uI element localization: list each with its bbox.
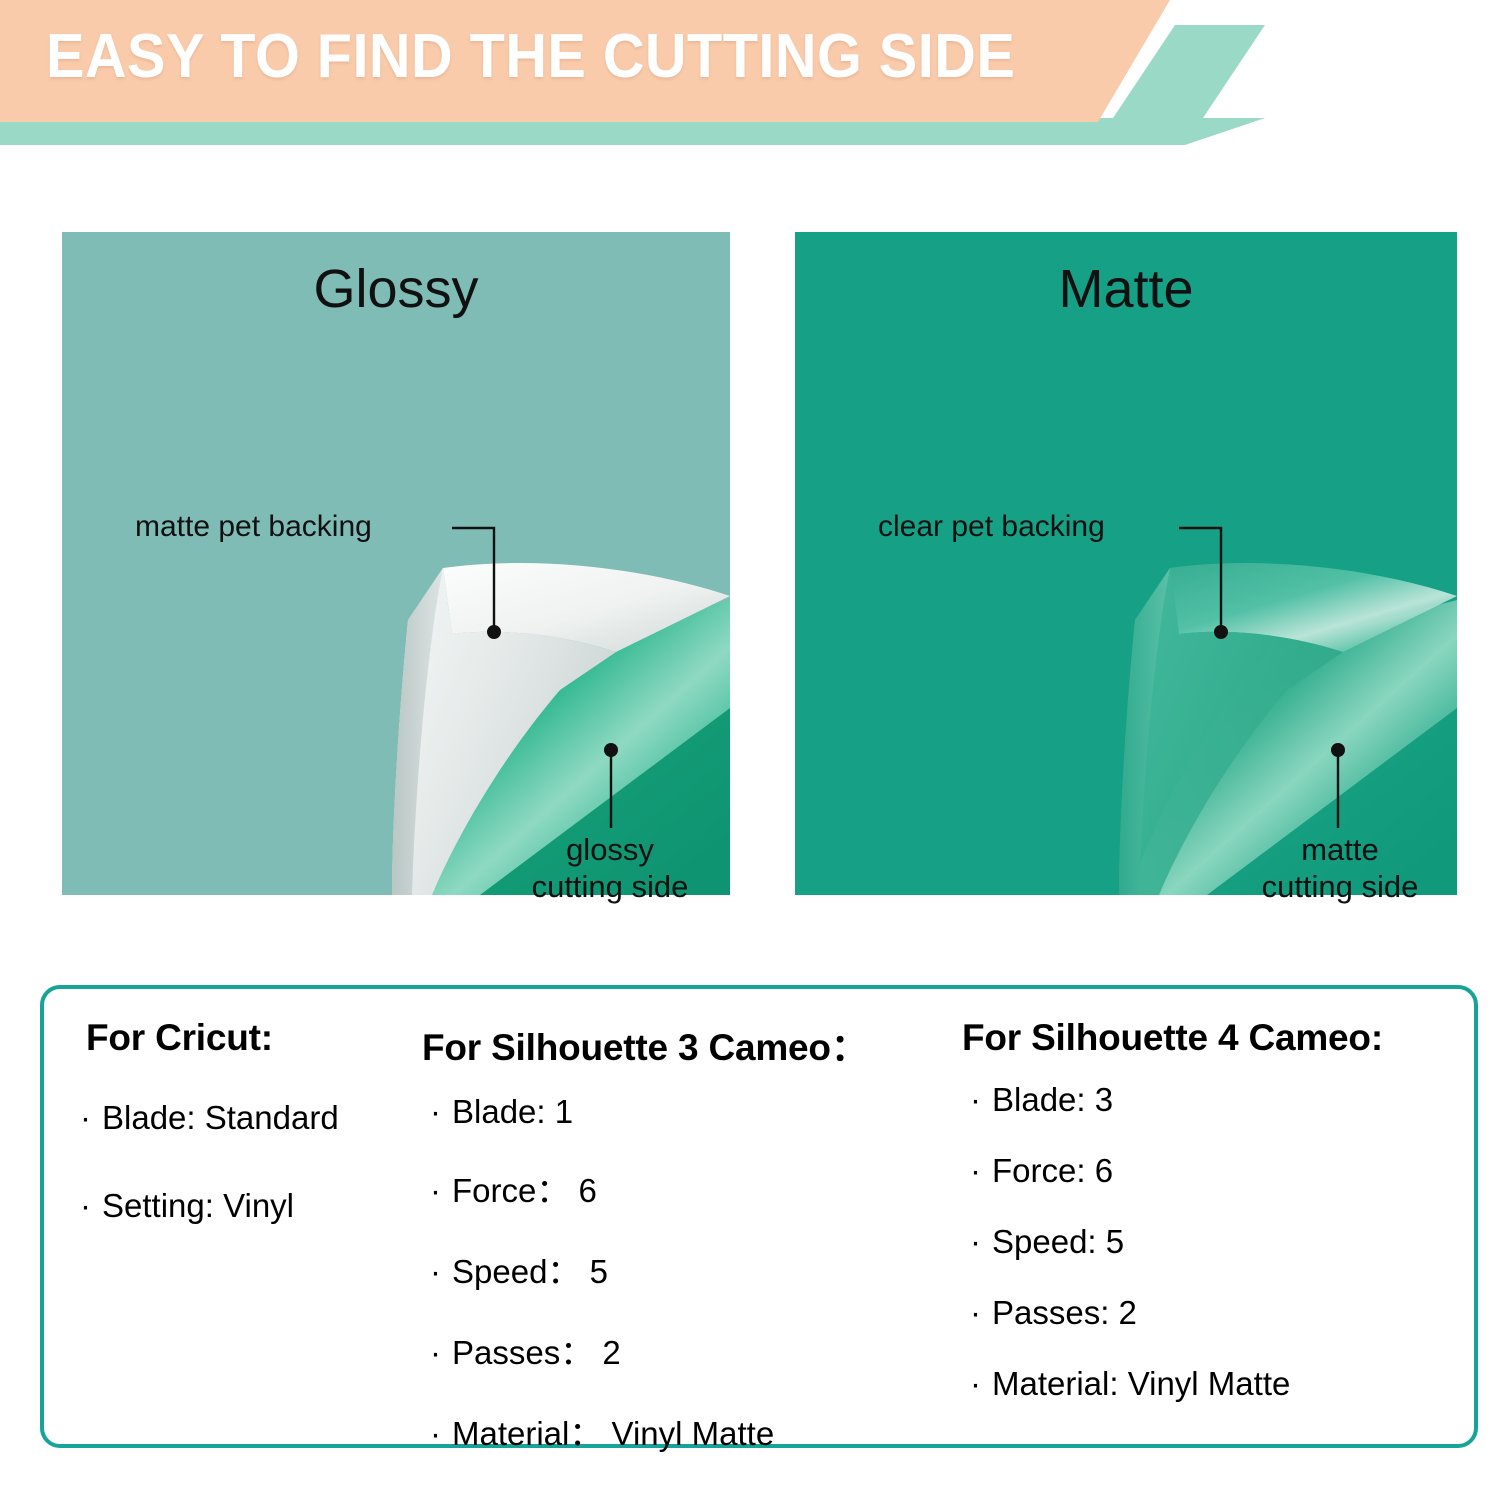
glossy-backing-leader-dot bbox=[487, 625, 501, 639]
settings-column-silhouette4: For Silhouette 4 Cameo: · Blade: 3 · For… bbox=[962, 1017, 1482, 1436]
settings-item-text: Force: 6 bbox=[992, 1152, 1113, 1190]
settings-item: · Force： 6 bbox=[422, 1164, 952, 1212]
matte-cut-leader-dot bbox=[1331, 743, 1345, 757]
glossy-panel-title: Glossy bbox=[62, 258, 730, 320]
bullet-icon: · bbox=[970, 1296, 992, 1329]
settings-item: · Blade: 3 bbox=[962, 1081, 1482, 1119]
settings-item-text: Speed: 5 bbox=[992, 1223, 1124, 1261]
settings-item-text: Blade: Standard bbox=[102, 1099, 339, 1137]
bullet-icon: · bbox=[430, 1174, 452, 1207]
settings-item-text: Blade: 3 bbox=[992, 1081, 1113, 1119]
bullet-icon: · bbox=[970, 1225, 992, 1258]
bullet-icon: · bbox=[430, 1255, 452, 1288]
settings-item: · Speed: 5 bbox=[962, 1223, 1482, 1261]
settings-item: · Force: 6 bbox=[962, 1152, 1482, 1190]
bullet-icon: · bbox=[430, 1336, 452, 1369]
matte-cutting-side-label-line2: cutting side bbox=[1180, 869, 1490, 906]
settings-item-text: Setting: Vinyl bbox=[102, 1187, 294, 1225]
matte-cutting-side-label-line1: matte bbox=[1180, 832, 1490, 869]
matte-backing-label: clear pet backing bbox=[878, 509, 1105, 544]
bullet-icon: · bbox=[970, 1367, 992, 1400]
settings-column-cricut: For Cricut: · Blade: Standard · Setting:… bbox=[86, 1017, 416, 1275]
glossy-cutting-side-label-line2: cutting side bbox=[450, 869, 770, 906]
bullet-icon: · bbox=[430, 1417, 452, 1450]
bullet-icon: · bbox=[970, 1083, 992, 1116]
glossy-cut-leader-dot bbox=[604, 743, 618, 757]
settings-list-cricut: · Blade: Standard · Setting: Vinyl bbox=[86, 1099, 416, 1225]
settings-item-text: Speed： 5 bbox=[452, 1245, 608, 1293]
settings-list-silhouette4: · Blade: 3 · Force: 6 · Speed: 5 · Passe… bbox=[962, 1081, 1482, 1403]
matte-backing-leader-dot bbox=[1214, 625, 1228, 639]
bullet-icon: · bbox=[430, 1095, 452, 1128]
settings-heading-silhouette4: For Silhouette 4 Cameo: bbox=[962, 1017, 1482, 1059]
settings-item-text: Passes: 2 bbox=[992, 1294, 1137, 1332]
matte-panel-title: Matte bbox=[795, 258, 1457, 320]
comparison-panels: Glossy Matte matte pet backing clear pet… bbox=[0, 0, 1490, 960]
glossy-backing-label: matte pet backing bbox=[135, 509, 372, 544]
glossy-cutting-side-label: glossy cutting side bbox=[450, 832, 770, 905]
settings-item-text: Blade: 1 bbox=[452, 1093, 573, 1131]
settings-column-silhouette3: For Silhouette 3 Cameo： · Blade: 1 · For… bbox=[422, 1017, 952, 1488]
settings-heading-silhouette3: For Silhouette 3 Cameo： bbox=[422, 1017, 952, 1071]
settings-heading-cricut: For Cricut: bbox=[86, 1017, 416, 1059]
settings-item: · Speed： 5 bbox=[422, 1245, 952, 1293]
matte-panel-graphic bbox=[795, 232, 1457, 895]
settings-item-text: Force： 6 bbox=[452, 1164, 597, 1212]
bullet-icon: · bbox=[970, 1154, 992, 1187]
settings-item: · Setting: Vinyl bbox=[86, 1187, 416, 1225]
bullet-icon: · bbox=[80, 1101, 102, 1134]
glossy-panel-graphic bbox=[62, 232, 730, 895]
machine-settings-box: For Cricut: · Blade: Standard · Setting:… bbox=[40, 985, 1478, 1448]
settings-item: · Blade: Standard bbox=[86, 1099, 416, 1137]
settings-item-text: Material: Vinyl Matte bbox=[992, 1365, 1290, 1403]
settings-item: · Material： Vinyl Matte bbox=[422, 1407, 952, 1455]
settings-item-text: Passes： 2 bbox=[452, 1326, 621, 1374]
settings-list-silhouette3: · Blade: 1 · Force： 6 · Speed： 5 · Passe… bbox=[422, 1093, 952, 1455]
glossy-cutting-side-label-line1: glossy bbox=[450, 832, 770, 869]
settings-item: · Blade: 1 bbox=[422, 1093, 952, 1131]
panels-illustration bbox=[0, 0, 1490, 960]
settings-item: · Passes: 2 bbox=[962, 1294, 1482, 1332]
bullet-icon: · bbox=[80, 1189, 102, 1222]
matte-cutting-side-label: matte cutting side bbox=[1180, 832, 1490, 905]
settings-item: · Material: Vinyl Matte bbox=[962, 1365, 1482, 1403]
settings-item: · Passes： 2 bbox=[422, 1326, 952, 1374]
settings-item-text: Material： Vinyl Matte bbox=[452, 1407, 774, 1455]
